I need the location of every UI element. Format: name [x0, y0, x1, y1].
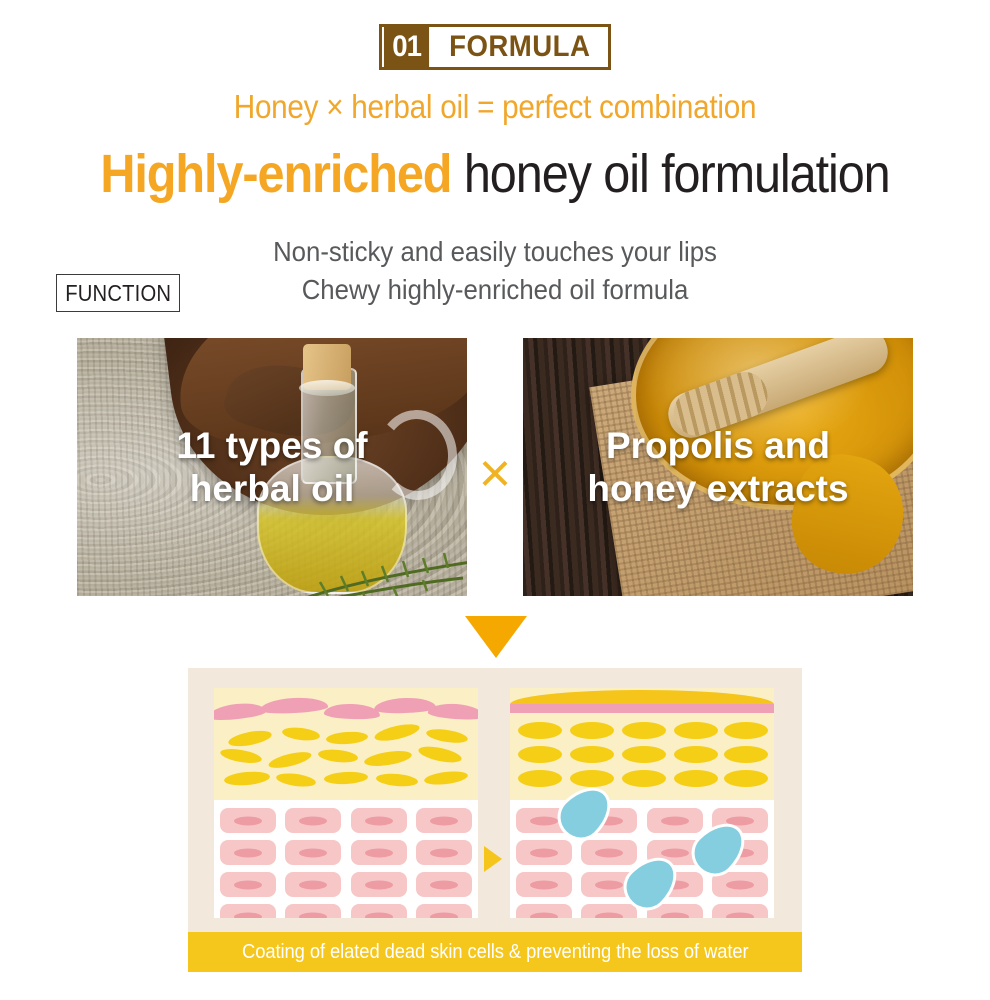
cell-row: [220, 808, 472, 833]
diagram-panel-after: [510, 688, 774, 918]
skin-cell: [351, 808, 407, 833]
formula-section-page: 01 FORMULA Honey × herbal oil = perfect …: [0, 0, 990, 1000]
headline-accent: Highly-enriched: [100, 144, 451, 204]
subtitle: Honey × herbal oil = perfect combination: [50, 88, 941, 126]
lipid-ellipse: [267, 749, 313, 771]
bottle-cork: [303, 344, 351, 390]
skin-diagram: Coating of elated dead skin cells & prev…: [188, 668, 802, 972]
function-label-box: FUNCTION: [56, 274, 180, 312]
lipid-ellipse: [570, 746, 614, 763]
cell-row: [220, 904, 472, 918]
skin-cell: [581, 840, 637, 865]
lipid-ellipse: [622, 746, 666, 763]
skin-flake: [214, 701, 267, 722]
headline-plain: honey oil formulation: [464, 144, 890, 204]
page-title: Highly-enriched honey oil formulation: [50, 143, 941, 205]
lipid-ellipse: [570, 722, 614, 739]
description-line-2: Chewy highly-enriched oil formula: [164, 271, 826, 309]
herbal-oil-photo: 11 types of herbal oil: [77, 338, 467, 596]
cell-row: [220, 840, 472, 865]
skin-cell: [285, 840, 341, 865]
skin-flake: [428, 702, 478, 721]
left-caption-line-2: herbal oil: [87, 467, 457, 510]
skin-cell: [416, 840, 472, 865]
lipid-ellipse: [326, 731, 369, 746]
rosemary-sprig: [303, 528, 467, 596]
description-line-1: Non-sticky and easily touches your lips: [164, 233, 826, 271]
lipid-ellipse: [518, 770, 562, 787]
skin-cells-grid-before: [214, 800, 478, 918]
lipid-ellipse: [724, 770, 768, 787]
skin-cell: [581, 904, 637, 918]
skin-cell: [285, 872, 341, 897]
lipid-ellipse: [219, 746, 262, 765]
skin-cell: [220, 808, 276, 833]
right-photo-caption: Propolis and honey extracts: [523, 424, 913, 510]
skin-flake: [260, 696, 329, 715]
lipid-ellipse: [224, 770, 271, 787]
skin-flake: [324, 703, 380, 720]
cell-row: [220, 872, 472, 897]
lipid-ellipse: [518, 746, 562, 763]
lipid-ellipse: [317, 748, 358, 764]
skin-cell: [416, 904, 472, 918]
lipid-ellipse: [622, 770, 666, 787]
skin-flake: [374, 697, 436, 714]
badge-number: 01: [384, 27, 429, 67]
lipid-ellipse: [570, 770, 614, 787]
section-badge: 01 FORMULA: [0, 24, 990, 70]
down-arrow-icon: [465, 616, 527, 658]
multiply-icon: ×: [462, 440, 528, 506]
left-caption-line-1: 11 types of: [87, 424, 457, 467]
badge-frame: 01 FORMULA: [379, 24, 612, 70]
skin-cell: [516, 840, 572, 865]
right-caption-line-1: Propolis and: [533, 424, 903, 467]
lipid-ellipse: [518, 722, 562, 739]
lipid-ellipse: [674, 722, 718, 739]
honey-propolis-photo: Propolis and honey extracts: [523, 338, 913, 596]
function-description: Non-sticky and easily touches your lips …: [164, 233, 826, 309]
skin-cell: [220, 872, 276, 897]
diagram-caption: Coating of elated dead skin cells & prev…: [242, 941, 749, 964]
function-label: FUNCTION: [65, 280, 171, 307]
skin-cell: [351, 840, 407, 865]
lipid-ellipse: [423, 769, 468, 786]
skin-cell: [220, 904, 276, 918]
lipid-ellipse: [281, 726, 320, 743]
lipid-ellipse: [324, 771, 369, 785]
skin-cell: [416, 872, 472, 897]
badge-word: FORMULA: [438, 27, 601, 67]
skin-cell: [516, 904, 572, 918]
skin-cell: [416, 808, 472, 833]
lipid-ellipse: [674, 746, 718, 763]
lipid-ellipse: [227, 728, 273, 749]
lipid-ellipse: [674, 770, 718, 787]
skin-cell: [220, 840, 276, 865]
skin-cell: [516, 872, 572, 897]
skin-cell: [351, 872, 407, 897]
stratum-corneum-damaged: [214, 688, 478, 800]
lipid-ellipse: [417, 744, 463, 766]
lipid-ellipse: [373, 721, 421, 744]
diagram-caption-bar: Coating of elated dead skin cells & prev…: [188, 932, 802, 972]
skin-cell: [351, 904, 407, 918]
lipid-ellipse: [275, 771, 316, 788]
diagram-panel-before: [214, 688, 478, 918]
lipid-ellipse: [376, 772, 419, 788]
right-caption-line-2: honey extracts: [533, 467, 903, 510]
skin-cell: [712, 904, 768, 918]
lipid-ellipse: [425, 727, 468, 745]
left-photo-caption: 11 types of herbal oil: [77, 424, 467, 510]
stratum-corneum-coated: [510, 688, 774, 800]
pink-skin-layer: [510, 704, 774, 713]
lipid-ellipse: [724, 722, 768, 739]
lipid-ellipse: [622, 722, 666, 739]
lipid-ellipse: [363, 748, 412, 768]
transition-arrow-icon: [484, 846, 502, 872]
skin-cell: [285, 904, 341, 918]
skin-cell: [647, 808, 703, 833]
skin-cell: [285, 808, 341, 833]
lipid-ellipse: [724, 746, 768, 763]
